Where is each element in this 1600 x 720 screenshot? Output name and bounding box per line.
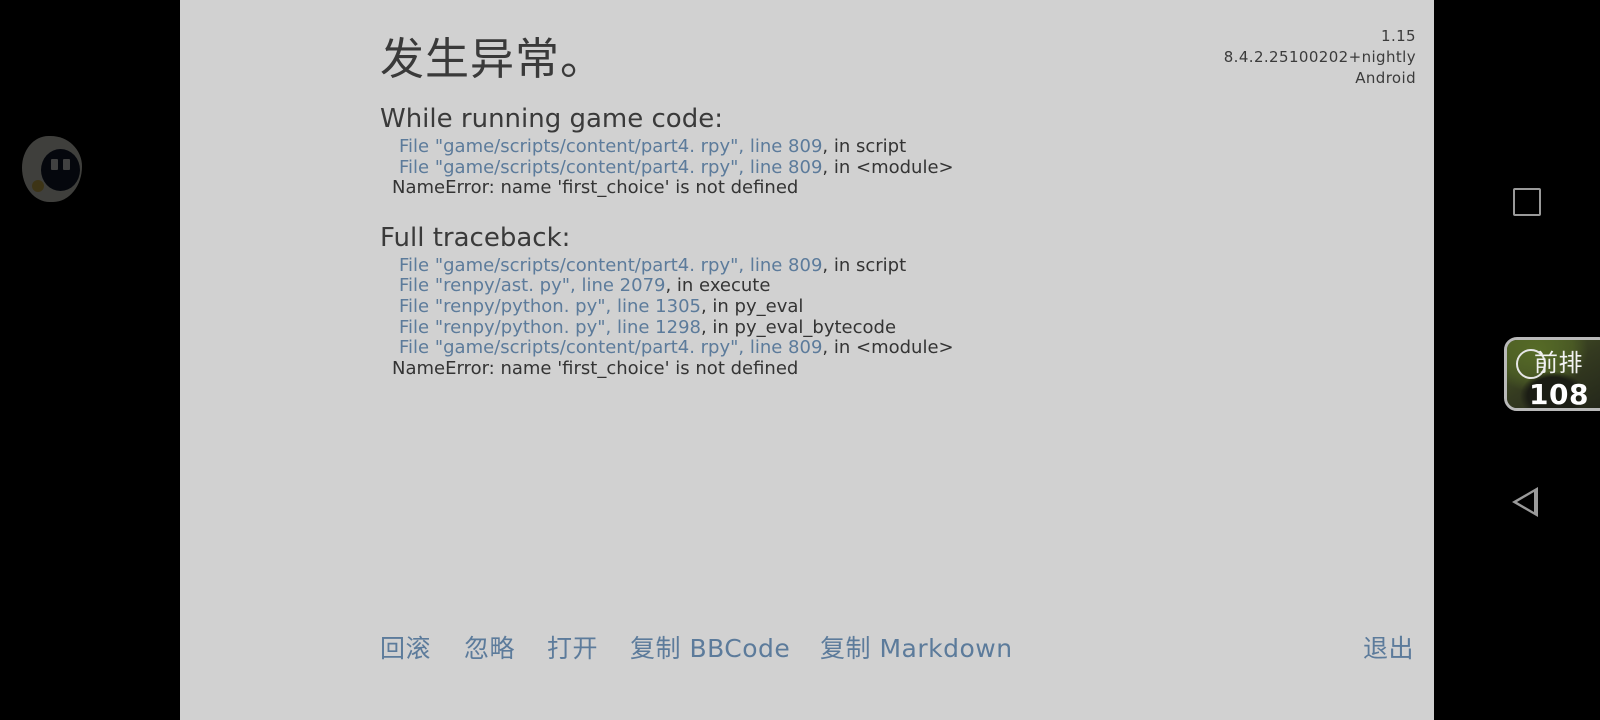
build-version: 8.4.2.25100202+nightly — [1224, 47, 1416, 68]
traceback-file-link[interactable]: File "game/scripts/content/part4. rpy", … — [399, 157, 822, 178]
bubble-accent-dot — [32, 180, 44, 192]
traceback-line: File "game/scripts/content/part4. rpy", … — [380, 338, 1414, 359]
android-screen: 1.15 8.4.2.25100202+nightly Android 发生异常… — [0, 0, 1600, 720]
traceback-file-link[interactable]: File "game/scripts/content/part4. rpy", … — [399, 255, 822, 276]
traceback-file-link[interactable]: File "renpy/python. py", line 1305 — [399, 296, 701, 317]
error-message: NameError: name 'first_choice' is not de… — [380, 178, 1414, 199]
copy-bbcode-button[interactable]: 复制 BBCode — [630, 632, 790, 666]
floating-stream-widget[interactable]: 前排 108 — [1504, 337, 1600, 411]
renpy-exception-panel: 1.15 8.4.2.25100202+nightly Android 发生异常… — [180, 0, 1434, 720]
section-heading: While running game code: — [380, 104, 1414, 134]
pause-app-bubble-icon[interactable] — [22, 136, 82, 202]
section-heading: Full traceback: — [380, 223, 1414, 253]
square-recents-icon[interactable] — [1513, 188, 1541, 216]
traceback-line: File "renpy/ast. py", line 2079, in exec… — [380, 276, 1414, 297]
traceback-file-link[interactable]: File "renpy/ast. py", line 2079 — [399, 275, 665, 296]
widget-count: 108 — [1529, 380, 1589, 410]
traceback-line: File "game/scripts/content/part4. rpy", … — [380, 137, 1414, 158]
version-info: 1.15 8.4.2.25100202+nightly Android — [1224, 26, 1416, 89]
traceback-file-link[interactable]: File "renpy/python. py", line 1298 — [399, 317, 701, 338]
traceback-line-tail: , in <module> — [822, 337, 953, 358]
bubble-pause-bar-left — [51, 159, 58, 170]
traceback-line: File "game/scripts/content/part4. rpy", … — [380, 158, 1414, 179]
action-button-row: 回滚 忽略 打开 复制 BBCode 复制 Markdown 退出 — [380, 632, 1414, 666]
quit-button[interactable]: 退出 — [1363, 632, 1414, 666]
widget-label: 前排 — [1534, 349, 1583, 377]
traceback-file-link[interactable]: File "game/scripts/content/part4. rpy", … — [399, 136, 822, 157]
traceback-line-tail: , in py_eval_bytecode — [701, 317, 896, 338]
ignore-button[interactable]: 忽略 — [464, 632, 515, 666]
triangle-back-icon[interactable] — [1512, 487, 1538, 517]
bubble-pause-bar-right — [63, 159, 70, 170]
traceback-line-tail: , in execute — [665, 275, 770, 296]
section-full-traceback: Full traceback: File "game/scripts/conte… — [380, 223, 1414, 380]
traceback-line: File "renpy/python. py", line 1298, in p… — [380, 318, 1414, 339]
rollback-button[interactable]: 回滚 — [380, 632, 431, 666]
traceback-line-tail: , in script — [822, 255, 906, 276]
copy-markdown-button[interactable]: 复制 Markdown — [820, 632, 1013, 666]
platform-name: Android — [1224, 68, 1416, 89]
traceback-line-tail: , in py_eval — [701, 296, 803, 317]
traceback-file-link[interactable]: File "game/scripts/content/part4. rpy", … — [399, 337, 822, 358]
traceback-body: While running game code: File "game/scri… — [380, 104, 1414, 403]
traceback-line: File "renpy/python. py", line 1305, in p… — [380, 297, 1414, 318]
traceback-line-tail: , in script — [822, 136, 906, 157]
exception-panel-content: 1.15 8.4.2.25100202+nightly Android 发生异常… — [180, 0, 1434, 720]
error-message: NameError: name 'first_choice' is not de… — [380, 359, 1414, 380]
bubble-dark-circle — [41, 149, 80, 191]
traceback-line: File "game/scripts/content/part4. rpy", … — [380, 256, 1414, 277]
open-button[interactable]: 打开 — [547, 632, 598, 666]
renpy-version: 1.15 — [1224, 26, 1416, 47]
traceback-line-tail: , in <module> — [822, 157, 953, 178]
page-title: 发生异常。 — [380, 34, 605, 86]
section-while-running-game-code: While running game code: File "game/scri… — [380, 104, 1414, 199]
